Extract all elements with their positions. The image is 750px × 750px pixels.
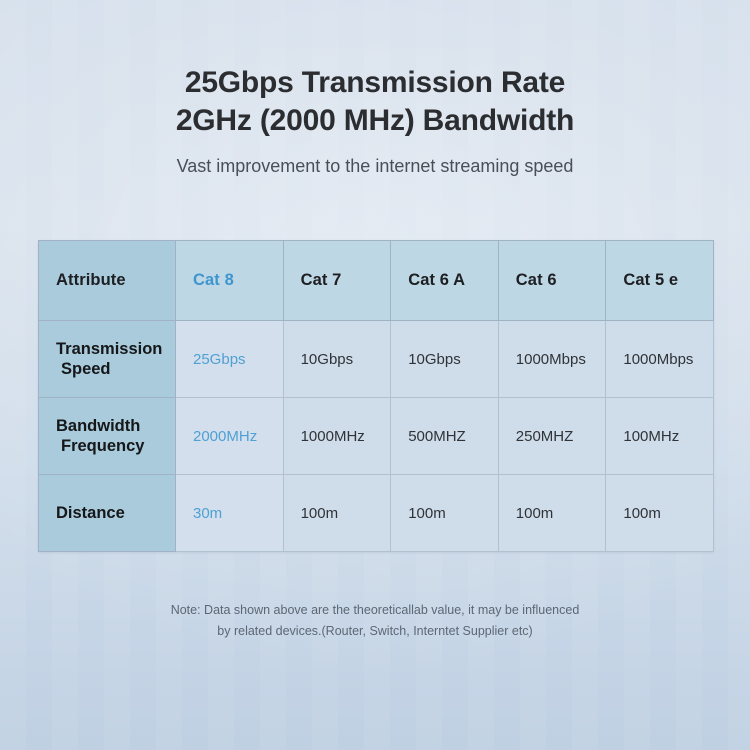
row-label-bandwidth-frequency: Bandwidth Frequency [39, 398, 176, 475]
cell-distance-cat6a: 100m [391, 475, 499, 552]
row-label-line-1: Bandwidth [56, 417, 140, 435]
table-row: Transmission Speed 25Gbps 10Gbps 10Gbps … [39, 321, 714, 398]
cell-distance-cat7: 100m [283, 475, 391, 552]
table-body: Transmission Speed 25Gbps 10Gbps 10Gbps … [39, 321, 714, 552]
footnote: Note: Data shown above are the theoretic… [0, 600, 750, 642]
cell-transmission-speed-cat5e: 1000Mbps [606, 321, 714, 398]
cell-transmission-speed-cat7: 10Gbps [283, 321, 391, 398]
row-label-line-2: Speed [56, 359, 175, 379]
page-title-line-1: 25Gbps Transmission Rate [0, 64, 750, 102]
table-row: Bandwidth Frequency 2000MHz 1000MHz 500M… [39, 398, 714, 475]
cell-bandwidth-frequency-cat6: 250MHZ [498, 398, 606, 475]
cell-bandwidth-frequency-cat5e: 100MHz [606, 398, 714, 475]
cell-distance-cat6: 100m [498, 475, 606, 552]
cell-transmission-speed-cat6a: 10Gbps [391, 321, 499, 398]
row-label-line-1: Distance [56, 504, 125, 522]
row-label-transmission-speed: Transmission Speed [39, 321, 176, 398]
cell-bandwidth-frequency-cat6a: 500MHZ [391, 398, 499, 475]
column-header-cat7: Cat 7 [283, 241, 391, 321]
cell-transmission-speed-cat6: 1000Mbps [498, 321, 606, 398]
cell-transmission-speed-cat8: 25Gbps [176, 321, 284, 398]
column-header-attribute: Attribute [39, 241, 176, 321]
column-header-cat5e: Cat 5 e [606, 241, 714, 321]
table-row: Distance 30m 100m 100m 100m 100m [39, 475, 714, 552]
cell-distance-cat5e: 100m [606, 475, 714, 552]
cell-bandwidth-frequency-cat7: 1000MHz [283, 398, 391, 475]
footnote-line-2: by related devices.(Router, Switch, Inte… [0, 621, 750, 642]
row-label-distance: Distance [39, 475, 176, 552]
column-header-cat6: Cat 6 [498, 241, 606, 321]
row-label-line-1: Transmission [56, 340, 162, 358]
cell-bandwidth-frequency-cat8: 2000MHz [176, 398, 284, 475]
infographic-page: 25Gbps Transmission Rate 2GHz (2000 MHz)… [0, 0, 750, 750]
page-subtitle: Vast improvement to the internet streami… [0, 155, 750, 177]
column-header-cat6a: Cat 6 A [391, 241, 499, 321]
cell-distance-cat8: 30m [176, 475, 284, 552]
footnote-line-1: Note: Data shown above are the theoretic… [0, 600, 750, 621]
cable-comparison-table: Attribute Cat 8 Cat 7 Cat 6 A Cat 6 Cat … [38, 240, 714, 552]
header-block: 25Gbps Transmission Rate 2GHz (2000 MHz)… [0, 64, 750, 177]
page-title-line-2: 2GHz (2000 MHz) Bandwidth [0, 102, 750, 140]
table-header-row: Attribute Cat 8 Cat 7 Cat 6 A Cat 6 Cat … [39, 241, 714, 321]
column-header-cat8: Cat 8 [176, 241, 284, 321]
table-header: Attribute Cat 8 Cat 7 Cat 6 A Cat 6 Cat … [39, 241, 714, 321]
row-label-line-2: Frequency [56, 436, 175, 456]
